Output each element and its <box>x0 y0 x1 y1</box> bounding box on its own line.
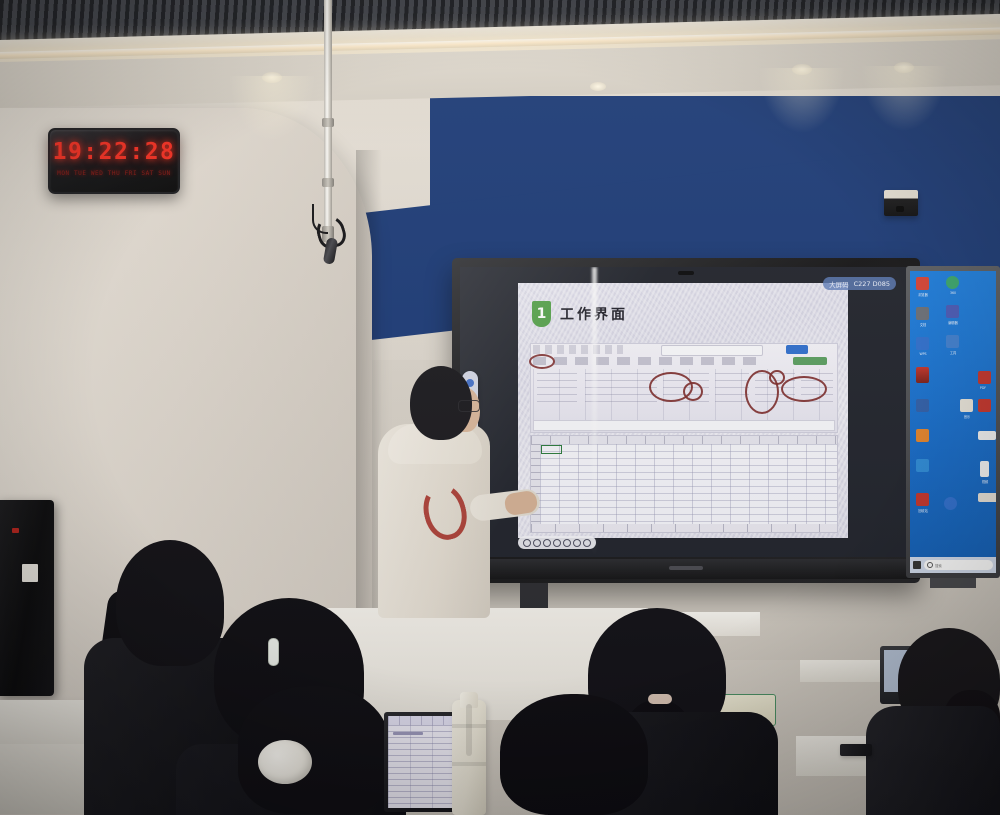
icon-label: 360 <box>942 291 964 295</box>
classroom-photo: 19:22:28 MON TUE WED THU FRI SAT SUN 1 工… <box>0 0 1000 815</box>
smartphone <box>840 744 872 756</box>
interactive-whiteboard[interactable]: 1 工作界面 <box>452 258 920 583</box>
bottom-toolbar[interactable] <box>518 536 596 549</box>
rack-status-led <box>12 528 19 533</box>
pole-joint <box>322 178 334 187</box>
clock-time: 19:22:28 <box>50 139 178 165</box>
downlight-icon <box>792 64 812 75</box>
laptop-text-line <box>393 732 423 735</box>
desktop-icon-label[interactable] <box>978 493 996 502</box>
icon-label: 视频 <box>974 479 996 484</box>
icon-label: 文档 <box>912 322 934 327</box>
secondary-monitor[interactable]: 浏览器 360 文档 编辑器 WPS 工具 PDF 音乐 视频 <box>906 266 1000 578</box>
desktop-icon-recycle[interactable] <box>916 493 929 506</box>
desktop-icon-banner[interactable] <box>978 431 996 440</box>
student-left-hair <box>116 540 224 666</box>
icon-label: 编辑器 <box>942 320 964 325</box>
desktop-icon-browser[interactable] <box>916 277 929 290</box>
screen-code-badge: 大屏码 C227 D085 <box>823 277 896 290</box>
icon-label: 音乐 <box>956 414 978 419</box>
pen-icon[interactable] <box>543 539 551 547</box>
start-icon[interactable] <box>913 561 921 569</box>
desktop-icon-doc[interactable] <box>916 307 929 320</box>
settings-icon[interactable] <box>573 539 581 547</box>
desktop-icon-360[interactable] <box>946 276 959 289</box>
select-icon[interactable] <box>533 539 541 547</box>
icon-label: 工具 <box>942 350 964 355</box>
scrunchie-icon <box>258 740 312 784</box>
close-icon[interactable] <box>553 539 561 547</box>
bottle-seam <box>452 762 486 766</box>
downlight-icon <box>894 62 914 73</box>
code-badge-value: C227 D085 <box>854 280 890 288</box>
desktop-icon-wps[interactable] <box>916 337 929 350</box>
capture-icon[interactable] <box>563 539 571 547</box>
icon-label: PDF <box>972 386 994 390</box>
led-wall-clock: 19:22:28 MON TUE WED THU FRI SAT SUN <box>48 128 180 194</box>
icon-label: WPS <box>912 352 934 356</box>
desktop-icon-settings[interactable] <box>916 459 929 472</box>
cursor-icon[interactable] <box>523 539 531 547</box>
icon-label: 回收站 <box>912 508 934 513</box>
desktop-icon-music[interactable] <box>916 399 929 412</box>
bottle-clip <box>466 704 472 756</box>
equipment-rack <box>0 500 54 696</box>
pole-joint <box>322 118 334 127</box>
brand-logo <box>669 566 703 570</box>
monitor-stand <box>930 578 976 588</box>
icon-label: 浏览器 <box>912 292 934 297</box>
downlight-icon <box>262 72 282 83</box>
desktop-icon-app[interactable] <box>978 399 991 412</box>
desktop-icon-file[interactable] <box>980 461 989 477</box>
search-placeholder: 搜索 <box>935 563 942 568</box>
search-icon <box>927 562 933 568</box>
bottle-seam <box>452 724 486 728</box>
back-icon[interactable] <box>583 539 591 547</box>
desktop-icon-video[interactable] <box>916 429 929 442</box>
hair-tie-icon <box>648 694 672 704</box>
downlight-icon <box>590 82 606 91</box>
desktop-icon-tool[interactable] <box>946 335 959 348</box>
rack-label <box>22 564 38 582</box>
glasses-icon <box>458 400 480 412</box>
camera-lens <box>896 206 904 212</box>
hair-clip-icon <box>268 638 279 666</box>
student-center-front-hair <box>500 694 648 815</box>
clock-indicators: MON TUE WED THU FRI SAT SUN <box>50 170 178 177</box>
desktop-icon-editor[interactable] <box>946 305 959 318</box>
whiteboard-camera-icon <box>678 271 694 275</box>
desktop-icon-pdf2[interactable] <box>978 371 991 384</box>
whiteboard-bezel-bottom <box>452 559 920 579</box>
windows-desktop[interactable]: 浏览器 360 文档 编辑器 WPS 工具 PDF 音乐 视频 <box>910 271 996 573</box>
desktop-icon-note[interactable] <box>960 399 973 412</box>
code-badge-label: 大屏码 <box>829 279 849 289</box>
taskbar[interactable]: 搜索 <box>910 557 996 573</box>
desktop-icon-photo[interactable] <box>944 497 957 510</box>
student-right-body <box>866 706 1000 815</box>
wall-camera-icon <box>884 190 918 216</box>
desktop-icon-pdf[interactable] <box>916 367 929 383</box>
search-input[interactable]: 搜索 <box>924 560 993 570</box>
microphone-pole <box>324 0 332 228</box>
